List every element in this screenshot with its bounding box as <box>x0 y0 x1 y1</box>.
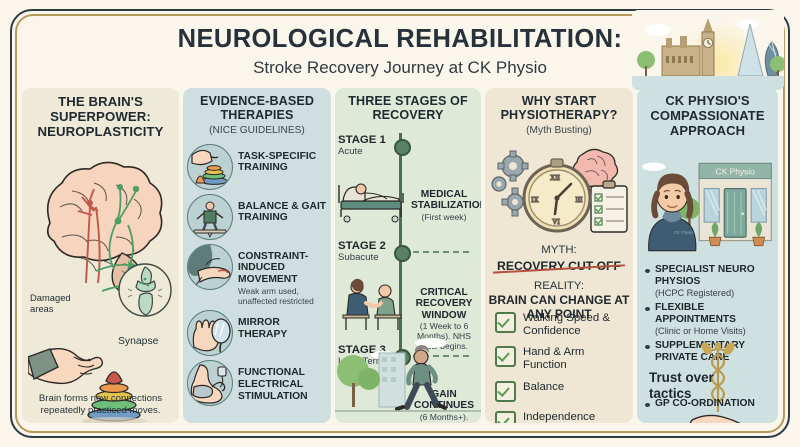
stage-1-phase: Acute <box>338 147 400 158</box>
checklist-label: Independence <box>523 411 595 423</box>
stacking-rings-icon <box>187 144 233 190</box>
column-3-heading: THREE STAGES OF RECOVERY <box>340 94 476 123</box>
myth-label: MYTH: <box>488 244 630 258</box>
london-skyline-icon <box>632 10 784 90</box>
list-item[interactable]: MIRROR THERAPY <box>187 310 327 356</box>
stage-1-desc: MEDICAL STABILIZATION (First week) <box>411 189 477 223</box>
therapy-title: CONSTRAINT-INDUCED MOVEMENT <box>238 251 327 286</box>
columns-container: THE BRAIN'S SUPERPOWER: NEUROPLASTICITY <box>22 88 778 423</box>
benefit-detail: (Clinic or Home Visits) <box>655 326 772 337</box>
stage-1-title: STAGE 1 <box>338 135 400 147</box>
column-4-subheading: (Myth Busting) <box>490 125 628 136</box>
svg-text:IX: IX <box>531 196 538 204</box>
list-item[interactable]: BALANCE & GAIT TRAINING <box>187 194 327 240</box>
therapy-detail: Weak arm used, unaffected restricted <box>238 287 327 306</box>
checkbox-checked-icon[interactable] <box>495 312 516 333</box>
stage-2-phase: Subacute <box>338 253 400 264</box>
list-item[interactable]: FLEXIBLE APPOINTMENTS (Clinic or Home Vi… <box>645 302 772 336</box>
stage-2-title: STAGE 2 <box>338 241 400 253</box>
stage-1-label: STAGE 1 Acute <box>338 135 400 158</box>
column-1-heading: THE BRAIN'S SUPERPOWER: NEUROPLASTICITY <box>27 94 174 139</box>
checklist-label: Hand & Arm Function <box>523 346 629 372</box>
column-1-body: Damagedareas Synapse Brain forms new con… <box>22 143 179 423</box>
therapy-title: BALANCE & GAIT TRAINING <box>238 201 327 224</box>
mirror-hand-icon <box>187 310 233 356</box>
column-3-body: STAGE 1 Acute MEDICAL STABILIZATION <box>335 127 481 423</box>
svg-text:XII: XII <box>550 174 560 182</box>
therapy-title: TASK-SPECIFIC TRAINING <box>238 151 327 174</box>
svg-text:III: III <box>576 196 584 204</box>
column-1-footer-text: Brain forms new connections repeatedly p… <box>28 393 173 417</box>
column-4-heading: WHY START PHYSIOTHERAPY? <box>490 94 628 123</box>
column-4-header: WHY START PHYSIOTHERAPY? (Myth Busting) <box>485 88 633 140</box>
list-item[interactable]: CONSTRAINT-INDUCED MOVEMENT Weak arm use… <box>187 244 327 307</box>
outcomes-checklist: Walking Speed & Confidence Hand & Arm Fu… <box>495 312 629 423</box>
column-2-subheading: (NICE GUIDELINES) <box>188 125 326 136</box>
therapy-list: TASK-SPECIFIC TRAINING <box>187 144 327 419</box>
infographic-poster: NEUROLOGICAL REHABILITATION: Stroke Reco… <box>0 0 800 447</box>
column-why-start-physiotherapy: WHY START PHYSIOTHERAPY? (Myth Busting) <box>485 88 633 423</box>
therapy-title: MIRROR THERAPY <box>238 317 327 340</box>
column-1-header: THE BRAIN'S SUPERPOWER: NEUROPLASTICITY <box>22 88 179 143</box>
benefit-detail: (HCPC Registered) <box>655 288 772 299</box>
list-item[interactable]: SPECIALIST NEURO PHYSIOS (HCPC Registere… <box>645 264 772 298</box>
list-item[interactable]: GP CO-ORDINATION <box>645 398 755 409</box>
column-ck-physio-approach: CK PHYSIO'S COMPASSIONATE APPROACH CK Ph… <box>637 88 778 423</box>
restrained-arm-icon <box>187 244 233 290</box>
stage-1-desc-title: MEDICAL STABILIZATION <box>411 189 477 212</box>
checkbox-checked-icon[interactable] <box>495 411 516 423</box>
myth-text-struck: RECOVERY CUT-OFF <box>497 259 621 274</box>
column-2-heading: EVIDENCE-BASED THERAPIES <box>188 94 326 123</box>
list-item[interactable]: Hand & Arm Function <box>495 346 629 372</box>
column-three-stages: THREE STAGES OF RECOVERY STAGE 1 Acute <box>335 88 481 423</box>
tagline: Trust overtactics <box>649 370 714 401</box>
ankle-electrode-icon <box>187 360 233 406</box>
column-5-body: CK Physio <box>637 142 778 423</box>
gp-coordination-label: GP CO-ORDINATION <box>655 398 755 409</box>
list-item[interactable]: Independence <box>495 411 629 423</box>
column-5-heading: CK PHYSIO'S COMPASSIONATE APPROACH <box>642 94 773 138</box>
column-5-header: CK PHYSIO'S COMPASSIONATE APPROACH <box>637 88 778 142</box>
column-2-header: EVIDENCE-BASED THERAPIES (NICE GUIDELINE… <box>183 88 331 140</box>
svg-text:CK Physio: CK Physio <box>674 230 694 235</box>
hospital-bed-icon <box>337 171 409 223</box>
bullet-dot-icon <box>645 269 650 273</box>
bullet-dot-icon <box>645 345 650 349</box>
column-evidence-based-therapies: EVIDENCE-BASED THERAPIES (NICE GUIDELINE… <box>183 88 331 423</box>
therapy-session-icon <box>339 277 407 333</box>
list-item[interactable]: TASK-SPECIFIC TRAINING <box>187 144 327 190</box>
myth-block: MYTH: RECOVERY CUT-OFF REALITY: BRAIN CA… <box>488 244 630 322</box>
svg-text:VI: VI <box>552 218 560 226</box>
reality-label: REALITY: <box>488 280 630 294</box>
therapy-title: FUNCTIONAL ELECTRICAL STIMULATION <box>238 367 327 402</box>
timeline-dash-2 <box>413 251 469 253</box>
walking-outdoors-icon <box>335 327 481 423</box>
stage-2-desc-title: CRITICAL RECOVERY WINDOW <box>411 287 477 322</box>
checklist-label: Walking Speed & Confidence <box>523 312 629 338</box>
benefit-title: FLEXIBLE APPOINTMENTS <box>655 302 772 325</box>
stage-1-desc-detail: (First week) <box>411 213 477 223</box>
synapse-icon <box>116 261 174 319</box>
physio-and-clinic-icon: CK Physio <box>637 142 778 262</box>
bullet-dot-icon <box>645 307 650 311</box>
column-neuroplasticity: THE BRAIN'S SUPERPOWER: NEUROPLASTICITY <box>22 88 179 423</box>
checkbox-checked-icon[interactable] <box>495 381 516 402</box>
checkbox-checked-icon[interactable] <box>495 346 516 367</box>
checklist-label: Balance <box>523 381 564 394</box>
column-3-header: THREE STAGES OF RECOVERY <box>335 88 481 127</box>
stage-2-label: STAGE 2 Subacute <box>338 241 400 264</box>
clinic-sign-text: CK Physio <box>716 167 755 177</box>
column-4-body: XII III VI IX MYTH: RECOVERY CUT-OFF REA… <box>485 140 633 423</box>
list-item[interactable]: Balance <box>495 381 629 402</box>
balance-board-icon <box>187 194 233 240</box>
bullet-dot-icon <box>645 403 650 407</box>
clock-gears-brain-clipboard-icon: XII III VI IX <box>487 140 631 244</box>
list-item[interactable]: FUNCTIONAL ELECTRICAL STIMULATION <box>187 360 327 406</box>
benefit-title: SPECIALIST NEURO PHYSIOS <box>655 264 772 287</box>
list-item[interactable]: Walking Speed & Confidence <box>495 312 629 338</box>
damaged-areas-label: Damagedareas <box>30 293 71 315</box>
column-2-body: TASK-SPECIFIC TRAINING <box>183 140 331 423</box>
